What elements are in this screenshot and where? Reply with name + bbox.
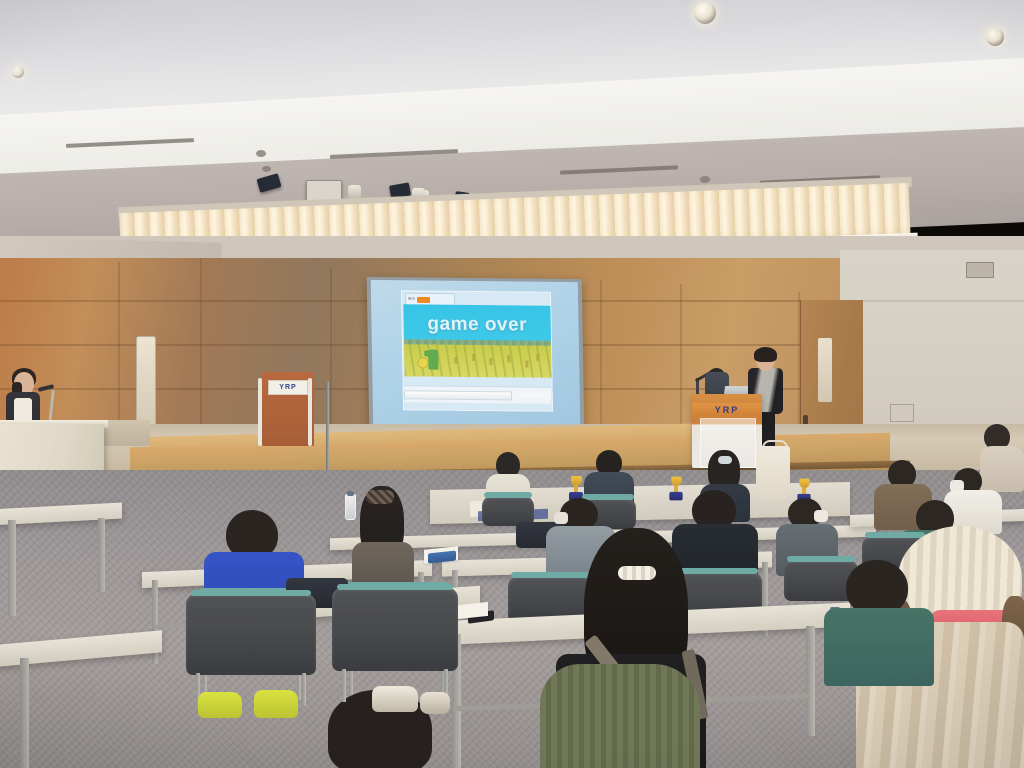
shoe-sneaker xyxy=(372,686,418,712)
game-canvas: game over xyxy=(403,304,551,378)
toolbar-label: 実行 xyxy=(408,298,415,302)
shoe-yellow xyxy=(254,690,298,718)
stand-leg xyxy=(258,378,262,446)
olive-knit-hood xyxy=(540,664,700,768)
audience-girl-ponytail xyxy=(352,486,414,582)
ceiling-fixture-hole xyxy=(700,176,710,183)
chair-foreground-right[interactable] xyxy=(332,588,458,700)
downlight-icon xyxy=(694,2,716,24)
game-sprite xyxy=(507,356,510,363)
shoe-yellow xyxy=(198,692,242,718)
scrunchie xyxy=(366,490,394,504)
microphone-stand xyxy=(326,382,329,478)
face-mask-icon xyxy=(814,510,828,522)
toolbar-run-button[interactable] xyxy=(417,296,430,302)
stand-leg xyxy=(308,378,312,446)
downlight-icon xyxy=(12,66,24,78)
yrp-sign-podium-text: YRP xyxy=(715,406,740,415)
downlight-icon xyxy=(986,28,1004,46)
table-leg xyxy=(806,626,815,736)
game-character-icon xyxy=(428,349,438,369)
torso xyxy=(824,608,934,686)
wall-vent-grille xyxy=(966,262,994,278)
auditorium-presentation-photo: 実行 game over ➞ YRP xyxy=(0,0,1024,768)
audience-child-foreground-right xyxy=(824,560,934,680)
game-sprite xyxy=(472,354,475,361)
yrp-sign-left-text: YRP xyxy=(279,384,296,391)
game-sprite xyxy=(537,353,540,360)
shoe-sneaker xyxy=(420,692,450,714)
table-leg xyxy=(8,520,16,616)
game-over-text: game over xyxy=(404,314,551,335)
game-sprite xyxy=(490,358,493,365)
table-leg xyxy=(20,658,29,768)
face-mask-icon xyxy=(554,512,568,524)
tote-bag xyxy=(756,446,790,500)
ceiling-fixture-hole xyxy=(256,150,266,157)
chair-foreground-left[interactable] xyxy=(186,594,316,704)
presenter-hair xyxy=(754,347,777,362)
arrow-right-icon: ➞ xyxy=(501,388,510,399)
door-push-plate xyxy=(818,338,832,402)
slide-progress-tail xyxy=(519,392,548,397)
wall-control-panel[interactable] xyxy=(890,404,914,422)
game-sprite xyxy=(525,360,528,367)
hair-tie xyxy=(718,456,732,464)
yrp-sign-podium: YRP xyxy=(692,403,762,417)
column-speaker-icon xyxy=(136,336,156,426)
slide-progress-bar: ➞ xyxy=(404,385,551,404)
ceiling-fixture-hole xyxy=(262,166,271,172)
game-sprite xyxy=(454,357,457,364)
right-wall-seam xyxy=(840,300,1024,302)
hair-clip xyxy=(618,566,656,580)
yrp-sign-left: YRP xyxy=(268,380,308,395)
slide-progress-fill xyxy=(404,390,512,400)
table-leg xyxy=(98,518,105,592)
audience-person-olive-foreground xyxy=(540,664,700,768)
